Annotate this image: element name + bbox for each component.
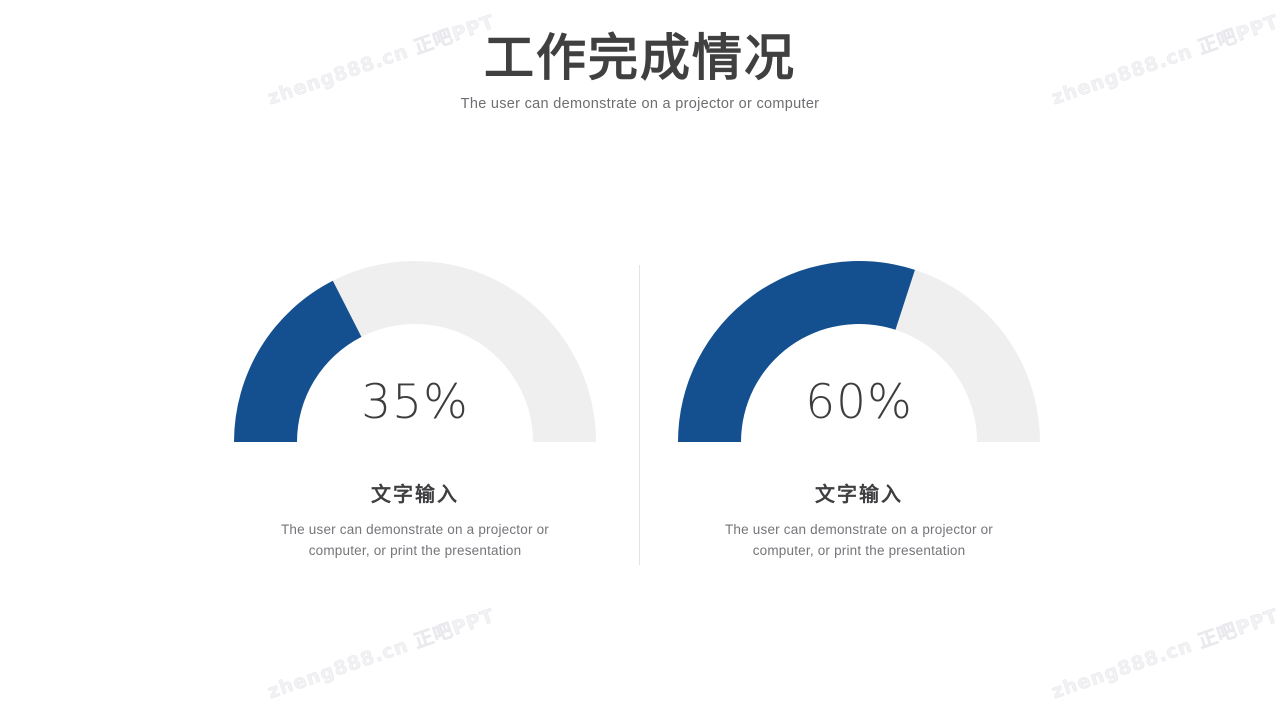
gauge-panel-1: 35% 文字输入 The user can demonstrate on a p… bbox=[202, 240, 628, 580]
gauge-value-1: 35% bbox=[233, 375, 597, 430]
panel-heading-2: 文字输入 bbox=[646, 478, 1072, 507]
gauge-chart-2: 60% bbox=[677, 248, 1041, 444]
slide-header: 工作完成情况 The user can demonstrate on a pro… bbox=[0, 0, 1280, 112]
panel-description-2: The user can demonstrate on a projector … bbox=[709, 520, 1009, 561]
gauge-panels: 35% 文字输入 The user can demonstrate on a p… bbox=[0, 240, 1280, 580]
watermark-bottom-right: zheng888.cn 正吧PPT bbox=[1048, 601, 1280, 704]
page-subtitle: The user can demonstrate on a projector … bbox=[0, 85, 1280, 112]
watermark-bottom-left: zheng888.cn 正吧PPT bbox=[264, 601, 498, 704]
page-title: 工作完成情况 bbox=[0, 0, 1280, 85]
gauge-panel-2: 60% 文字输入 The user can demonstrate on a p… bbox=[646, 240, 1072, 580]
gauge-value-2: 60% bbox=[677, 375, 1041, 430]
panel-divider bbox=[639, 265, 640, 565]
panel-description-1: The user can demonstrate on a projector … bbox=[265, 520, 565, 561]
gauge-chart-1: 35% bbox=[233, 248, 597, 444]
panel-heading-1: 文字输入 bbox=[202, 478, 628, 507]
